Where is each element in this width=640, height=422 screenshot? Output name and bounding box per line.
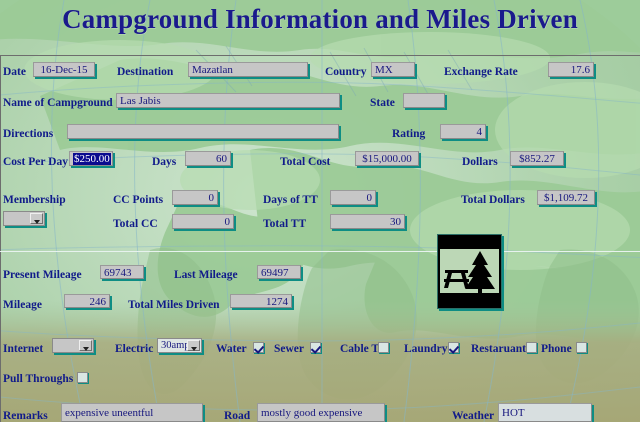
country-label: Country (325, 66, 367, 79)
total-dollars-label: Total Dollars (461, 194, 525, 207)
weather-label: Weather (452, 410, 494, 422)
total-tt-value: 30 (334, 216, 401, 228)
water-checkbox[interactable] (253, 342, 264, 353)
mileage-label: Mileage (3, 299, 42, 312)
road-label: Road (224, 410, 250, 422)
mileage-field[interactable]: 246 (64, 294, 110, 308)
cc-points-label: CC Points (113, 194, 163, 207)
total-dollars-value: $1,109.72 (541, 192, 591, 204)
membership-label: Membership (3, 194, 66, 207)
sewer-label: Sewer (274, 343, 304, 356)
remarks-value: expensive uneentful (65, 407, 199, 419)
date-field[interactable]: 16-Dec-15 (33, 62, 95, 77)
cost-per-day-field[interactable]: $250.00 (69, 151, 113, 166)
dollars-field[interactable]: $852.27 (510, 151, 564, 166)
present-mileage-field[interactable]: 69743 (100, 265, 144, 279)
date-label: Date (3, 66, 26, 79)
country-value: MX (375, 64, 411, 76)
phone-label: Phone (541, 343, 572, 356)
cost-per-day-value-wrap: $250.00 (73, 153, 109, 165)
total-miles-driven-label: Total Miles Driven (128, 299, 220, 312)
remarks-label: Remarks (3, 410, 48, 422)
destination-field[interactable]: Mazatlan (188, 62, 308, 77)
dollars-value: $852.27 (514, 153, 560, 165)
total-cc-value: 0 (176, 216, 230, 228)
total-miles-driven-field[interactable]: 1274 (230, 294, 292, 308)
remarks-field[interactable]: expensive uneentful (61, 403, 203, 422)
weather-value: HOT (502, 407, 588, 419)
internet-dropdown[interactable] (52, 338, 94, 353)
total-miles-driven-value: 1274 (234, 296, 288, 308)
directions-field[interactable] (67, 124, 339, 139)
last-mileage-label: Last Mileage (174, 269, 238, 282)
date-value: 16-Dec-15 (37, 64, 91, 76)
phone-checkbox[interactable] (576, 342, 587, 353)
pull-throughs-checkbox[interactable] (77, 372, 88, 383)
laundry-label: Laundry (404, 343, 447, 356)
directions-label: Directions (3, 128, 53, 141)
last-mileage-field[interactable]: 69497 (257, 265, 301, 279)
state-label: State (370, 97, 395, 110)
days-of-tt-label: Days of TT (263, 194, 318, 207)
campground-photo[interactable] (437, 234, 502, 309)
dollars-label: Dollars (462, 156, 498, 169)
state-field[interactable] (403, 93, 445, 108)
restaurant-label: Restaruant (471, 343, 526, 356)
electric-dropdown[interactable]: 30amp (157, 338, 202, 353)
cost-per-day-value: $250.00 (73, 153, 111, 165)
rating-label: Rating (392, 128, 425, 141)
total-cc-label: Total CC (113, 218, 158, 231)
destination-value: Mazatlan (192, 64, 304, 76)
days-label: Days (152, 156, 176, 169)
exchange-rate-field[interactable]: 17.6 (548, 62, 594, 77)
water-label: Water (216, 343, 247, 356)
pull-throughs-label: Pull Throughs (3, 373, 73, 386)
internet-label: Internet (3, 343, 43, 356)
total-tt-label: Total TT (263, 218, 306, 231)
total-dollars-field[interactable]: $1,109.72 (537, 190, 595, 205)
rating-value: 4 (444, 126, 482, 138)
campground-name-field[interactable]: Las Jabis (116, 93, 340, 108)
mileage-value: 246 (68, 296, 106, 308)
cable-checkbox[interactable] (378, 342, 389, 353)
days-of-tt-field[interactable]: 0 (330, 190, 376, 205)
restaurant-checkbox[interactable] (526, 342, 537, 353)
days-value: 60 (189, 153, 227, 165)
exchange-rate-value: 17.6 (552, 64, 590, 76)
days-field[interactable]: 60 (185, 151, 231, 166)
cost-per-day-label: Cost Per Day (3, 156, 68, 169)
electric-label: Electric (115, 343, 153, 356)
membership-dropdown[interactable] (3, 211, 45, 226)
laundry-checkbox[interactable] (448, 342, 459, 353)
chevron-down-icon[interactable] (187, 340, 200, 351)
rating-field[interactable]: 4 (440, 124, 486, 139)
chevron-down-icon[interactable] (30, 213, 43, 224)
total-cost-label: Total Cost (280, 156, 330, 169)
total-cc-field[interactable]: 0 (172, 214, 234, 229)
cable-label: Cable T (340, 343, 379, 356)
destination-label: Destination (117, 66, 173, 79)
chevron-down-icon[interactable] (79, 340, 92, 351)
total-tt-field[interactable]: 30 (330, 214, 405, 229)
road-field[interactable]: mostly good expensive 1105 (257, 403, 385, 422)
cc-points-value: 0 (176, 192, 214, 204)
weather-field[interactable]: HOT (498, 403, 592, 422)
campground-name-value: Las Jabis (120, 95, 336, 107)
days-of-tt-value: 0 (334, 192, 372, 204)
electric-value: 30amp (161, 340, 190, 351)
present-mileage-value: 69743 (104, 267, 140, 279)
road-value: mostly good expensive (261, 407, 381, 419)
exchange-rate-label: Exchange Rate (444, 66, 518, 79)
total-cost-field[interactable]: $15,000.00 (355, 151, 419, 166)
campground-name-label: Name of Campground (3, 97, 113, 110)
cc-points-field[interactable]: 0 (172, 190, 218, 205)
sewer-checkbox[interactable] (310, 342, 321, 353)
present-mileage-label: Present Mileage (3, 269, 82, 282)
total-cost-value: $15,000.00 (359, 153, 415, 165)
campground-form-window: Campground Information and Miles Driven … (0, 0, 640, 422)
country-field[interactable]: MX (371, 62, 415, 77)
form-body: Date 16-Dec-15 Destination Mazatlan Coun… (0, 0, 640, 422)
last-mileage-value: 69497 (261, 267, 297, 279)
